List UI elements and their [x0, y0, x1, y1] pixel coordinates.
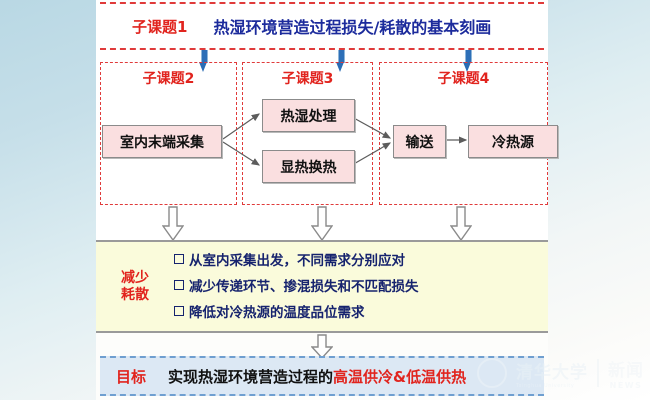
list-item-text: 降低对冷热源的温度品位需求 — [189, 305, 365, 321]
box-heat-humidity-treatment[interactable]: 热湿处理 — [262, 99, 355, 132]
subtopic-region-3: 子课题3 — [242, 62, 373, 205]
watermark-news-text: 新闻 — [608, 361, 644, 381]
box-cold-heat-source[interactable]: 冷热源 — [468, 125, 558, 158]
watermark-divider — [597, 359, 599, 387]
watermark-news-sub: NEWS — [608, 381, 644, 390]
subtopic-4-label: 子课题4 — [380, 68, 547, 88]
reduce-dissipation-box: 减少 耗散 从室内采集出发，不同需求分别应对 减少传递环节、掺混损失和不匹配损失… — [96, 240, 548, 333]
reduce-label-line1: 减少 — [104, 270, 166, 286]
checkbox-square-icon — [174, 306, 184, 316]
box-sensible-heat-exchange[interactable]: 显热换热 — [262, 150, 355, 183]
big-down-arrow-3 — [450, 206, 472, 242]
box-transport[interactable]: 输送 — [393, 125, 446, 158]
reduce-dissipation-label: 减少 耗散 — [104, 270, 166, 302]
subtopic-2-label: 子课题2 — [101, 68, 236, 88]
list-item: 从室内采集出发，不同需求分别应对 — [174, 248, 548, 274]
big-down-arrow-2 — [311, 206, 333, 242]
goal-bar: 目标 实现热湿环境营造过程的高温供冷&低温供热 — [100, 356, 544, 396]
checkbox-square-icon — [174, 280, 184, 290]
goal-label: 目标 — [116, 366, 146, 387]
checkbox-square-icon — [174, 254, 184, 264]
big-down-arrow-1 — [162, 206, 184, 242]
slide-canvas: 子课题1 热湿环境营造过程损失/耗散的基本刻画 子课题2 子课题3 子课题4 — [0, 0, 650, 400]
watermark-news: 新闻 NEWS — [608, 356, 644, 390]
topic1-title: 热湿环境营造过程损失/耗散的基本刻画 — [213, 14, 491, 38]
topic1-label: 子课题1 — [132, 16, 187, 37]
topic1-band: 子课题1 热湿环境营造过程损失/耗散的基本刻画 — [100, 2, 544, 50]
list-item-text: 减少传递环节、掺混损失和不匹配损失 — [189, 279, 419, 295]
list-item: 减少传递环节、掺混损失和不匹配损失 — [174, 274, 548, 300]
reduce-label-line2: 耗散 — [104, 287, 166, 303]
subtopic-3-label: 子课题3 — [243, 68, 372, 88]
reduce-item-list: 从室内采集出发，不同需求分别应对 减少传递环节、掺混损失和不匹配损失 降低对冷热… — [174, 248, 548, 326]
goal-text-plain: 实现热湿环境营造过程的 — [168, 368, 333, 386]
list-item: 降低对冷热源的温度品位需求 — [174, 300, 548, 326]
goal-text-highlight: 高温供冷&低温供热 — [333, 368, 466, 386]
list-item-text: 从室内采集出发，不同需求分别应对 — [189, 253, 405, 269]
box-indoor-terminal-collection[interactable]: 室内末端采集 — [102, 125, 222, 158]
goal-text: 实现热湿环境营造过程的高温供冷&低温供热 — [168, 366, 466, 387]
